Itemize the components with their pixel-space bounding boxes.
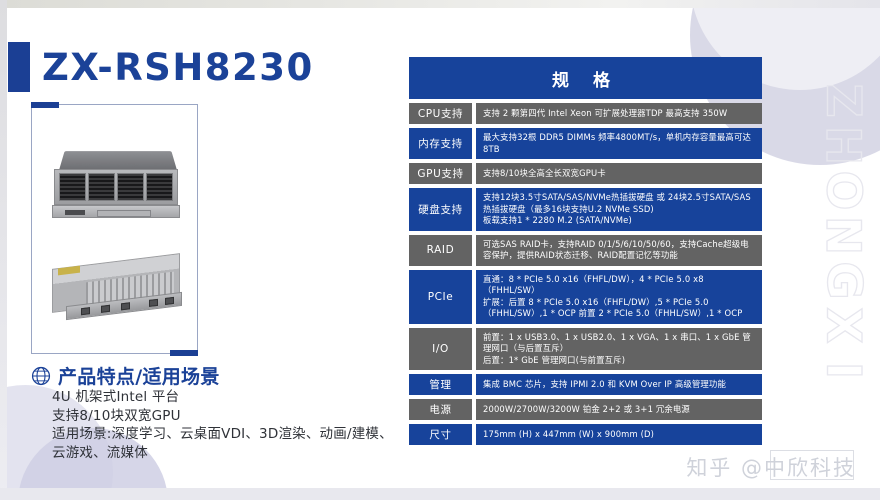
- vertical-watermark-char: G: [819, 261, 864, 300]
- spec-row: RAID可选SAS RAID卡，支持RAID 0/1/5/6/10/50/60，…: [409, 235, 762, 266]
- spec-row-value: 支持 2 颗第四代 Intel Xeon 可扩展处理器TDP 最高支持 350W: [476, 103, 762, 124]
- spec-row-label: 管理: [409, 374, 472, 395]
- spec-row: I/O前置：1 x USB3.0、1 x USB2.0、1 x VGA、1 x …: [409, 328, 762, 371]
- spec-row-value: 直通：8 * PCIe 5.0 x16（FHFL/DW），4 * PCIe 5.…: [476, 270, 762, 324]
- product-title: ZX-RSH8230: [42, 46, 314, 89]
- spec-row-value: 最大支持32根 DDR5 DIMMs 频率4800MT/s，单机内存容量最高可达…: [476, 128, 762, 159]
- top-edge-strip: [0, 0, 880, 8]
- features-heading-group: 产品特点/适用场景: [30, 362, 220, 389]
- spec-row-label: 尺寸: [409, 424, 472, 445]
- vertical-watermark-char: O: [820, 171, 865, 211]
- spec-row: CPU支持支持 2 颗第四代 Intel Xeon 可扩展处理器TDP 最高支持…: [409, 103, 762, 124]
- spec-row-value: 前置：1 x USB3.0、1 x USB2.0、1 x VGA、1 x 串口、…: [476, 328, 762, 371]
- product-photo-frame: [31, 104, 198, 354]
- left-edge-strip: [0, 0, 7, 500]
- spec-row: GPU支持支持8/10块全高全长双宽GPU卡: [409, 163, 762, 184]
- spec-row: 管理集成 BMC 芯片，支持 IPMI 2.0 和 KVM Over IP 高级…: [409, 374, 762, 395]
- specification-table: 规 格 CPU支持支持 2 颗第四代 Intel Xeon 可扩展处理器TDP …: [409, 57, 762, 445]
- spec-row: 电源2000W/2700W/3200W 铂金 2+2 或 3+1 冗余电源: [409, 399, 762, 420]
- vertical-watermark-char: N: [820, 216, 865, 255]
- features-description: 4U 机架式Intel 平台 支持8/10块双宽GPU 适用场景:深度学习、云桌…: [52, 388, 393, 462]
- spec-row-label: RAID: [409, 235, 472, 266]
- spec-row-label: GPU支持: [409, 163, 472, 184]
- vertical-watermark-char: X: [820, 307, 865, 343]
- spec-row-value: 集成 BMC 芯片，支持 IPMI 2.0 和 KVM Over IP 高级管理…: [476, 374, 762, 395]
- spec-row: 尺寸175mm (H) x 447mm (W) x 900mm (D): [409, 424, 762, 445]
- footer-watermark: 知乎 @中欣科技: [686, 452, 856, 482]
- frame-corner-accent-top-left: [31, 102, 59, 108]
- spec-row-value: 支持8/10块全高全长双宽GPU卡: [476, 163, 762, 184]
- features-title: 产品特点/适用场景: [58, 362, 220, 389]
- spec-row: 内存支持最大支持32根 DDR5 DIMMs 频率4800MT/s，单机内存容量…: [409, 128, 762, 159]
- spec-row-value: 2000W/2700W/3200W 铂金 2+2 或 3+1 冗余电源: [476, 399, 762, 420]
- frame-corner-accent-bottom-right: [170, 350, 198, 356]
- spec-row-label: 硬盘支持: [409, 188, 472, 231]
- spec-row-label: PCIe: [409, 270, 472, 324]
- title-accent-bar: [8, 42, 30, 92]
- specification-row-list: CPU支持支持 2 颗第四代 Intel Xeon 可扩展处理器TDP 最高支持…: [409, 103, 762, 445]
- specification-table-header: 规 格: [409, 57, 762, 99]
- server-front-view-image: [48, 149, 184, 221]
- spec-row-label: 内存支持: [409, 128, 472, 159]
- spec-row-label: CPU支持: [409, 103, 472, 124]
- globe-icon: [30, 365, 52, 387]
- vertical-watermark-char: I: [820, 362, 865, 380]
- spec-row-label: 电源: [409, 399, 472, 420]
- poster-canvas: Z H O N G X I ZX-RSH8230: [0, 0, 880, 500]
- spec-row-value: 175mm (H) x 447mm (W) x 900mm (D): [476, 424, 762, 445]
- spec-row: PCIe直通：8 * PCIe 5.0 x16（FHFL/DW），4 * PCI…: [409, 270, 762, 324]
- spec-row-value: 支持12块3.5寸SATA/SAS/NVMe热插拔硬盘 或 24块2.5寸SAT…: [476, 188, 762, 231]
- spec-row: 硬盘支持支持12块3.5寸SATA/SAS/NVMe热插拔硬盘 或 24块2.5…: [409, 188, 762, 231]
- spec-row-value: 可选SAS RAID卡，支持RAID 0/1/5/6/10/50/60，支持Ca…: [476, 235, 762, 266]
- spec-row-label: I/O: [409, 328, 472, 371]
- bottom-edge-band: [0, 488, 880, 500]
- server-side-view-image: [46, 253, 186, 325]
